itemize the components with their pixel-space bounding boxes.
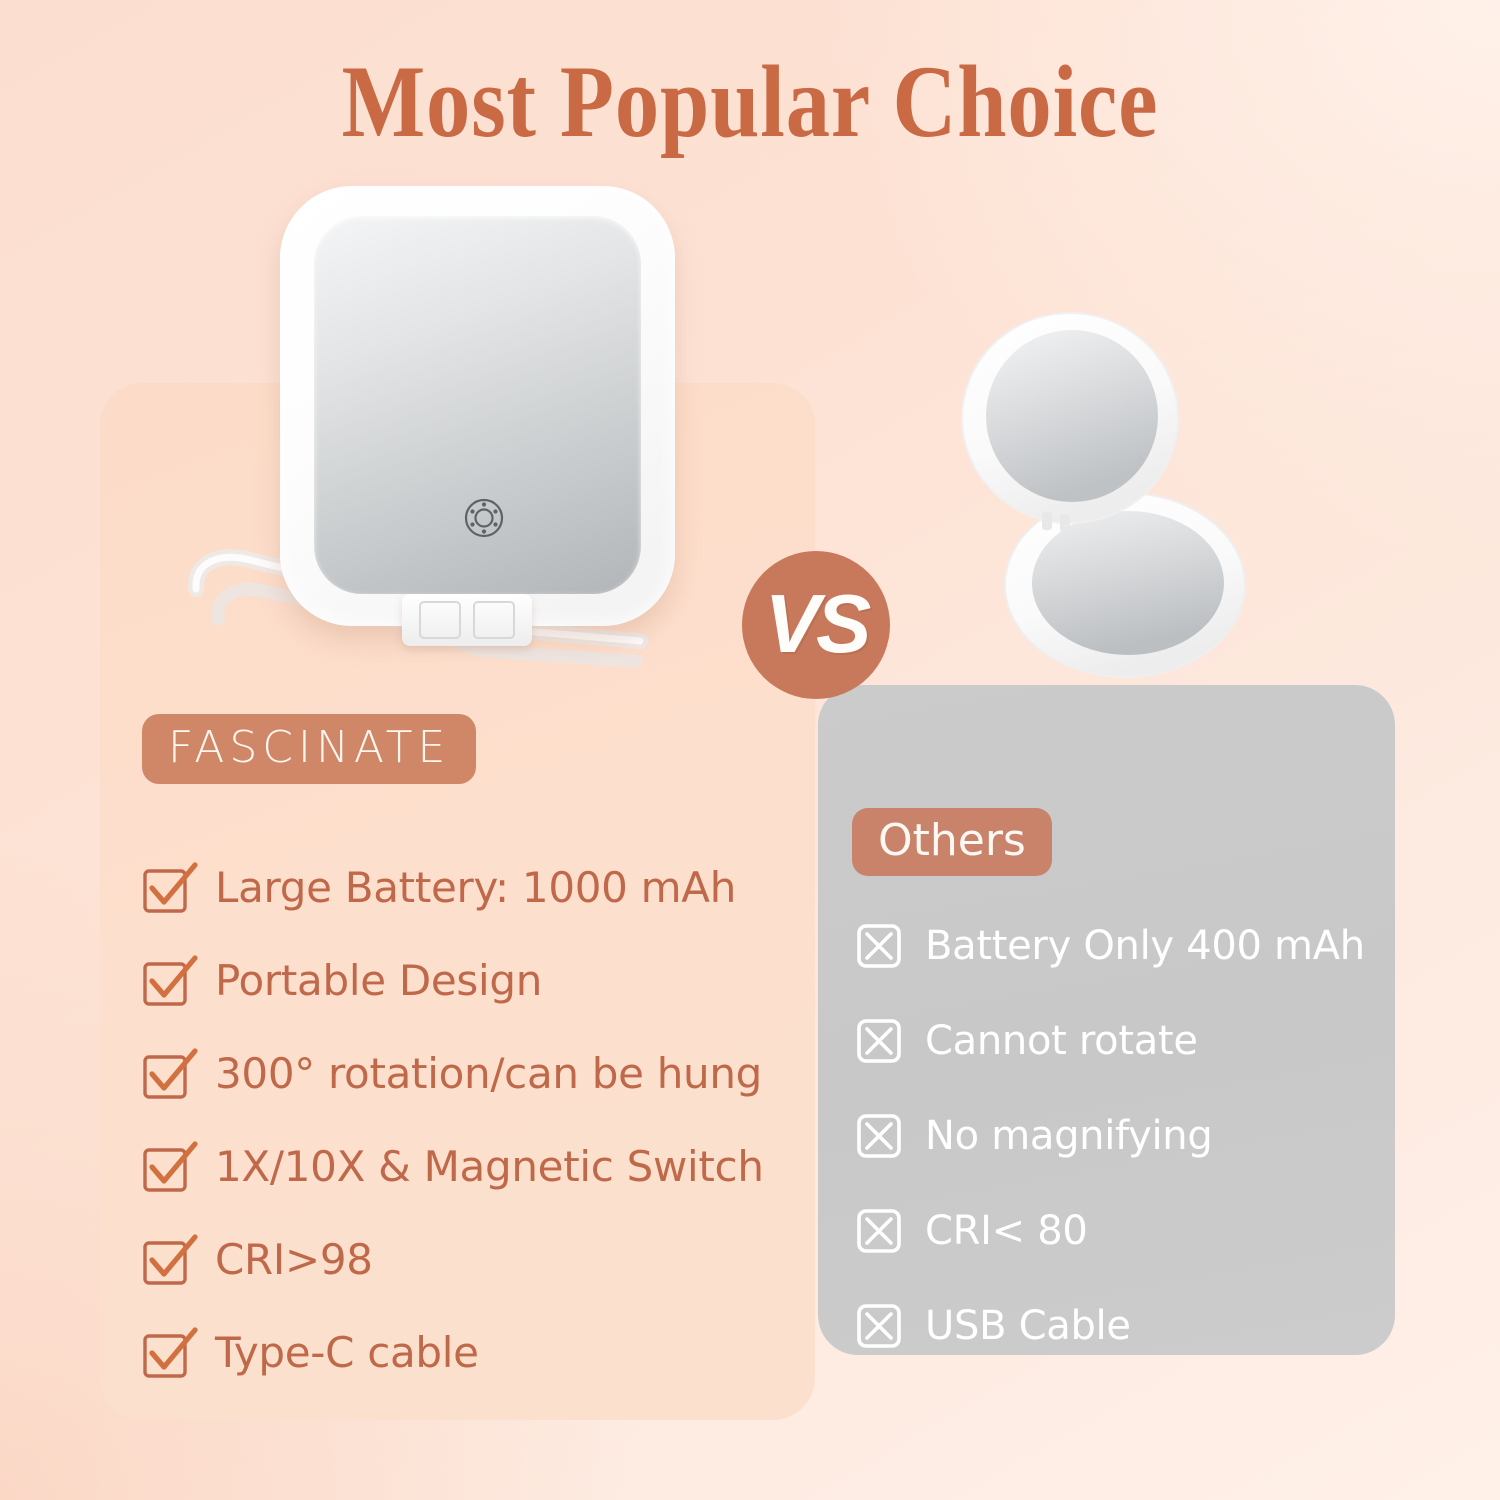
- brand-label: FASCINATE: [168, 722, 450, 773]
- list-item: CRI>98: [141, 1214, 801, 1307]
- list-item-label: CRI>98: [215, 1238, 373, 1282]
- infographic-canvas: Most Popular Choice: [0, 0, 1500, 1500]
- list-item-label: CRI< 80: [925, 1210, 1088, 1252]
- list-item: Type-C cable: [141, 1307, 801, 1400]
- list-item: USB Cable: [855, 1278, 1385, 1373]
- checkbox-checked-icon: [141, 861, 197, 917]
- list-item: No magnifying: [855, 1088, 1385, 1183]
- checkbox-crossed-icon: [855, 1017, 903, 1065]
- list-item: 1X/10X & Magnetic Switch: [141, 1121, 801, 1214]
- mirror-frame: [280, 186, 675, 626]
- checkbox-checked-icon: [141, 1140, 197, 1196]
- vs-badge: VS: [742, 551, 890, 699]
- list-item: Large Battery: 1000 mAh: [141, 842, 801, 935]
- fascinate-feature-list: Large Battery: 1000 mAh Portable Design …: [141, 842, 801, 1400]
- list-item-label: 300° rotation/can be hung: [215, 1052, 762, 1096]
- list-item: Battery Only 400 mAh: [855, 898, 1385, 993]
- others-feature-list: Battery Only 400 mAh Cannot rotate No ma…: [855, 898, 1385, 1373]
- list-item-label: Type-C cable: [215, 1331, 479, 1375]
- list-item: CRI< 80: [855, 1183, 1385, 1278]
- list-item-label: 1X/10X & Magnetic Switch: [215, 1145, 764, 1189]
- checkbox-checked-icon: [141, 954, 197, 1010]
- checkbox-crossed-icon: [855, 1302, 903, 1350]
- checkbox-crossed-icon: [855, 1207, 903, 1255]
- mirror-hinge: [402, 594, 532, 646]
- brand-badge-fascinate: FASCINATE: [142, 714, 476, 784]
- list-item-label: Battery Only 400 mAh: [925, 925, 1365, 967]
- touch-power-icon[interactable]: [462, 496, 506, 540]
- others-label: Others: [878, 815, 1026, 866]
- compact-round-mirror-image: [960, 300, 1300, 690]
- list-item-label: No magnifying: [925, 1115, 1212, 1157]
- hinge-detail-icon: [402, 594, 532, 646]
- list-item-label: Cannot rotate: [925, 1020, 1198, 1062]
- vs-label: VS: [765, 582, 868, 665]
- others-heading-badge: Others: [852, 808, 1052, 876]
- checkbox-checked-icon: [141, 1233, 197, 1289]
- list-item: 300° rotation/can be hung: [141, 1028, 801, 1121]
- list-item: Cannot rotate: [855, 993, 1385, 1088]
- list-item-label: USB Cable: [925, 1305, 1131, 1347]
- list-item-label: Portable Design: [215, 959, 542, 1003]
- square-led-mirror-image: [180, 178, 710, 688]
- list-item: Portable Design: [141, 935, 801, 1028]
- list-item-label: Large Battery: 1000 mAh: [215, 866, 736, 910]
- page-title: Most Popular Choice: [105, 48, 1395, 156]
- checkbox-crossed-icon: [855, 922, 903, 970]
- checkbox-checked-icon: [141, 1047, 197, 1103]
- checkbox-crossed-icon: [855, 1112, 903, 1160]
- checkbox-checked-icon: [141, 1326, 197, 1382]
